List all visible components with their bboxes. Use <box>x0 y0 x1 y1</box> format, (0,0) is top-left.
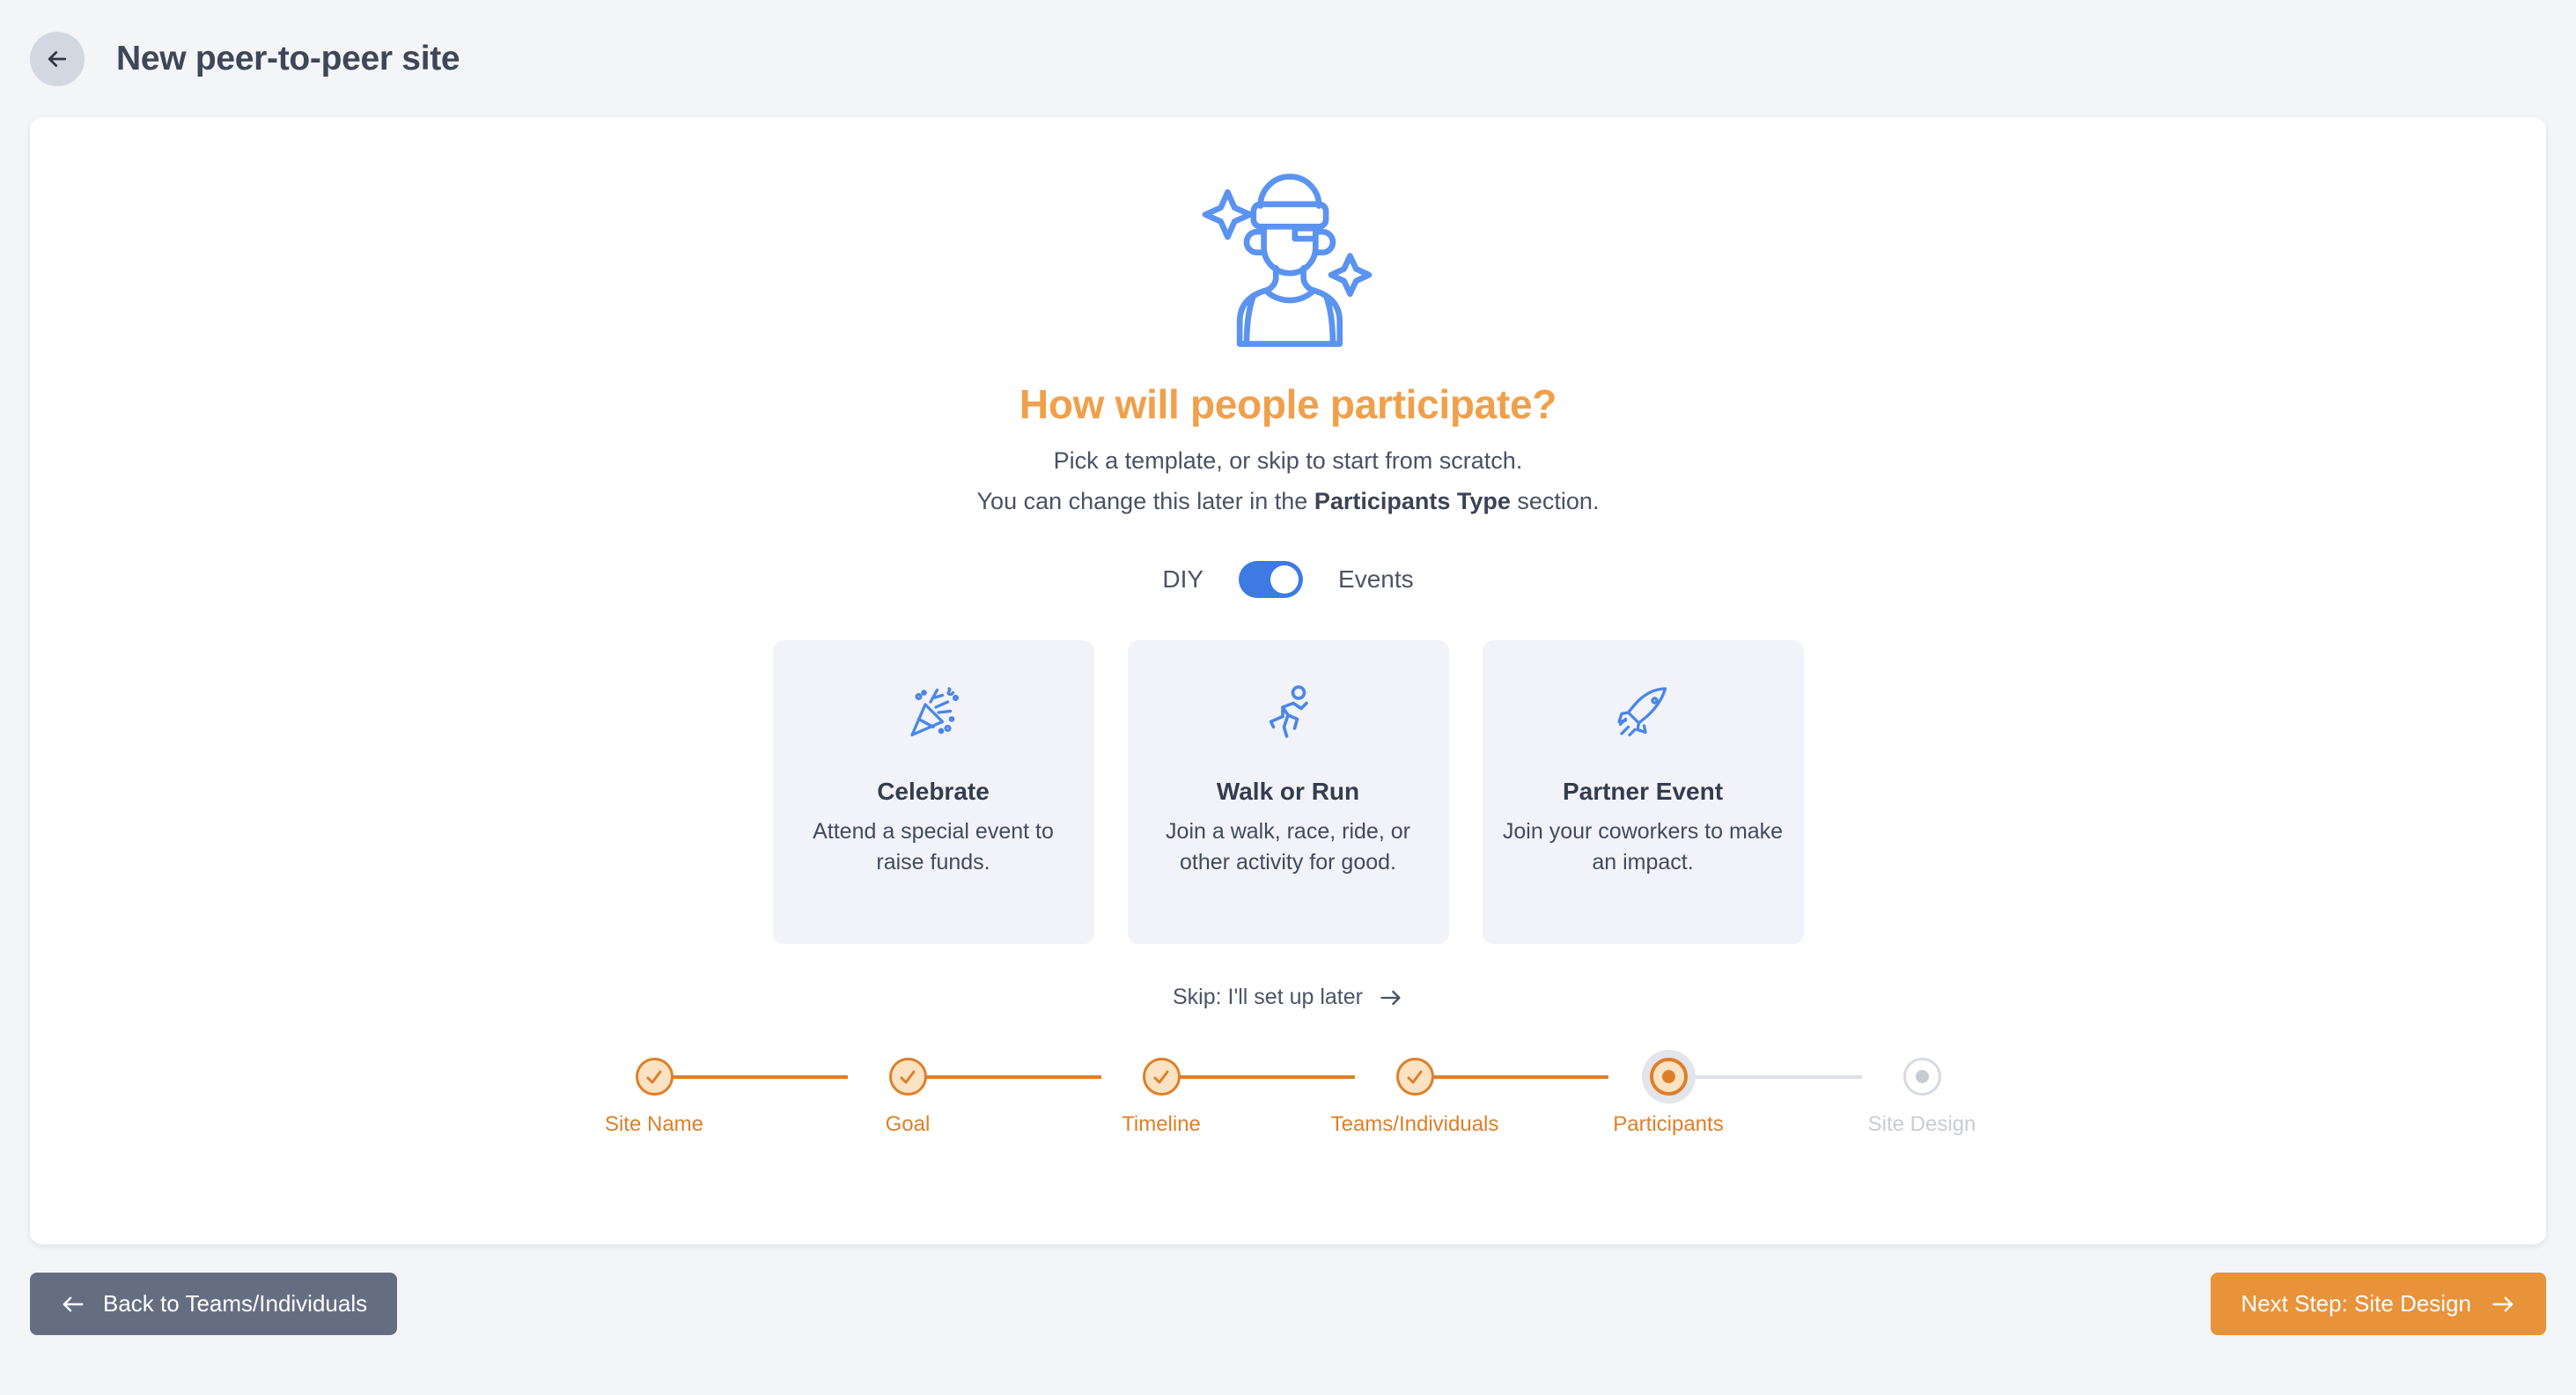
wizard-stepper: Site Name Goal <box>557 1058 2019 1137</box>
rocket-icon <box>1611 681 1674 744</box>
step-connector <box>1161 1075 1355 1079</box>
participant-athlete-icon <box>1182 158 1394 365</box>
step-participants[interactable]: Participants <box>1571 1058 1765 1137</box>
card-title: Partner Event <box>1563 778 1723 806</box>
page-header: New peer-to-peer site <box>0 0 2576 117</box>
arrow-right-icon <box>2491 1294 2516 1315</box>
card-title: Walk or Run <box>1217 778 1359 806</box>
step-label: Timeline <box>1122 1112 1201 1137</box>
step-connector <box>908 1075 1101 1079</box>
check-icon <box>1151 1067 1172 1088</box>
step-connector <box>654 1075 848 1079</box>
step-bullet-done <box>1143 1058 1181 1096</box>
check-icon <box>644 1067 665 1088</box>
subtitle-line-1: Pick a template, or skip to start from s… <box>1054 447 1523 475</box>
diy-events-switch[interactable] <box>1239 561 1303 598</box>
switch-knob <box>1270 565 1299 594</box>
step-bullet-active <box>1650 1058 1688 1096</box>
arrow-right-icon <box>1379 987 1403 1008</box>
subtitle-text-after: section. <box>1511 488 1600 514</box>
step-label: Participants <box>1613 1112 1723 1137</box>
main-title: How will people participate? <box>1019 380 1557 428</box>
toggle-label-events[interactable]: Events <box>1338 565 1414 594</box>
step-dot <box>1916 1070 1929 1083</box>
template-cards: Celebrate Attend a special event to rais… <box>773 640 1804 944</box>
arrow-left-icon <box>60 1294 85 1315</box>
next-step-site-design-button[interactable]: Next Step: Site Design <box>2211 1273 2546 1335</box>
diy-events-toggle-row: DIY Events <box>1162 561 1413 598</box>
skip-label: Skip: I'll set up later <box>1173 985 1363 1010</box>
step-label: Goal <box>886 1112 931 1137</box>
step-timeline[interactable]: Timeline <box>1064 1058 1258 1137</box>
wizard-page: New peer-to-peer site <box>0 0 2576 1395</box>
skip-link[interactable]: Skip: I'll set up later <box>1173 985 1403 1010</box>
check-icon <box>1404 1067 1425 1088</box>
step-teams-individuals[interactable]: Teams/Individuals <box>1318 1058 1512 1137</box>
step-connector <box>1415 1075 1608 1079</box>
step-label: Site Design <box>1868 1112 1976 1137</box>
wizard-panel: How will people participate? Pick a temp… <box>30 117 2546 1244</box>
subtitle-bold-term: Participants Type <box>1314 488 1511 514</box>
step-bullet-done <box>889 1058 927 1096</box>
card-title: Celebrate <box>877 778 990 806</box>
toggle-label-diy[interactable]: DIY <box>1162 565 1203 594</box>
check-icon <box>897 1067 918 1088</box>
template-card-partner-event[interactable]: Partner Event Join your coworkers to mak… <box>1483 640 1804 944</box>
step-connector <box>1668 1075 1862 1079</box>
step-label: Teams/Individuals <box>1331 1112 1499 1137</box>
party-popper-icon <box>902 681 965 744</box>
step-bullet-done <box>1396 1058 1434 1096</box>
header-back-button[interactable] <box>30 32 85 86</box>
next-button-label: Next Step: Site Design <box>2241 1290 2471 1317</box>
card-description: Join a walk, race, ride, or other activi… <box>1128 816 1449 878</box>
subtitle-text-before: You can change this later in the <box>977 488 1314 514</box>
step-site-design[interactable]: Site Design <box>1825 1058 2019 1137</box>
step-site-name[interactable]: Site Name <box>557 1058 751 1137</box>
step-label: Site Name <box>605 1112 703 1137</box>
step-bullet-done <box>636 1058 673 1096</box>
card-description: Attend a special event to raise funds. <box>773 816 1094 878</box>
back-to-teams-individuals-button[interactable]: Back to Teams/Individuals <box>30 1273 397 1335</box>
step-dot <box>1662 1070 1675 1083</box>
step-goal[interactable]: Goal <box>811 1058 1005 1137</box>
step-bullet-todo <box>1903 1058 1941 1096</box>
running-person-icon <box>1256 681 1320 744</box>
card-description: Join your coworkers to make an impact. <box>1483 816 1804 878</box>
subtitle-line-2: You can change this later in the Partici… <box>977 488 1600 515</box>
back-button-label: Back to Teams/Individuals <box>103 1290 367 1317</box>
template-card-walk-or-run[interactable]: Walk or Run Join a walk, race, ride, or … <box>1128 640 1449 944</box>
template-card-celebrate[interactable]: Celebrate Attend a special event to rais… <box>773 640 1094 944</box>
page-title: New peer-to-peer site <box>116 40 460 78</box>
arrow-left-icon <box>44 46 70 72</box>
